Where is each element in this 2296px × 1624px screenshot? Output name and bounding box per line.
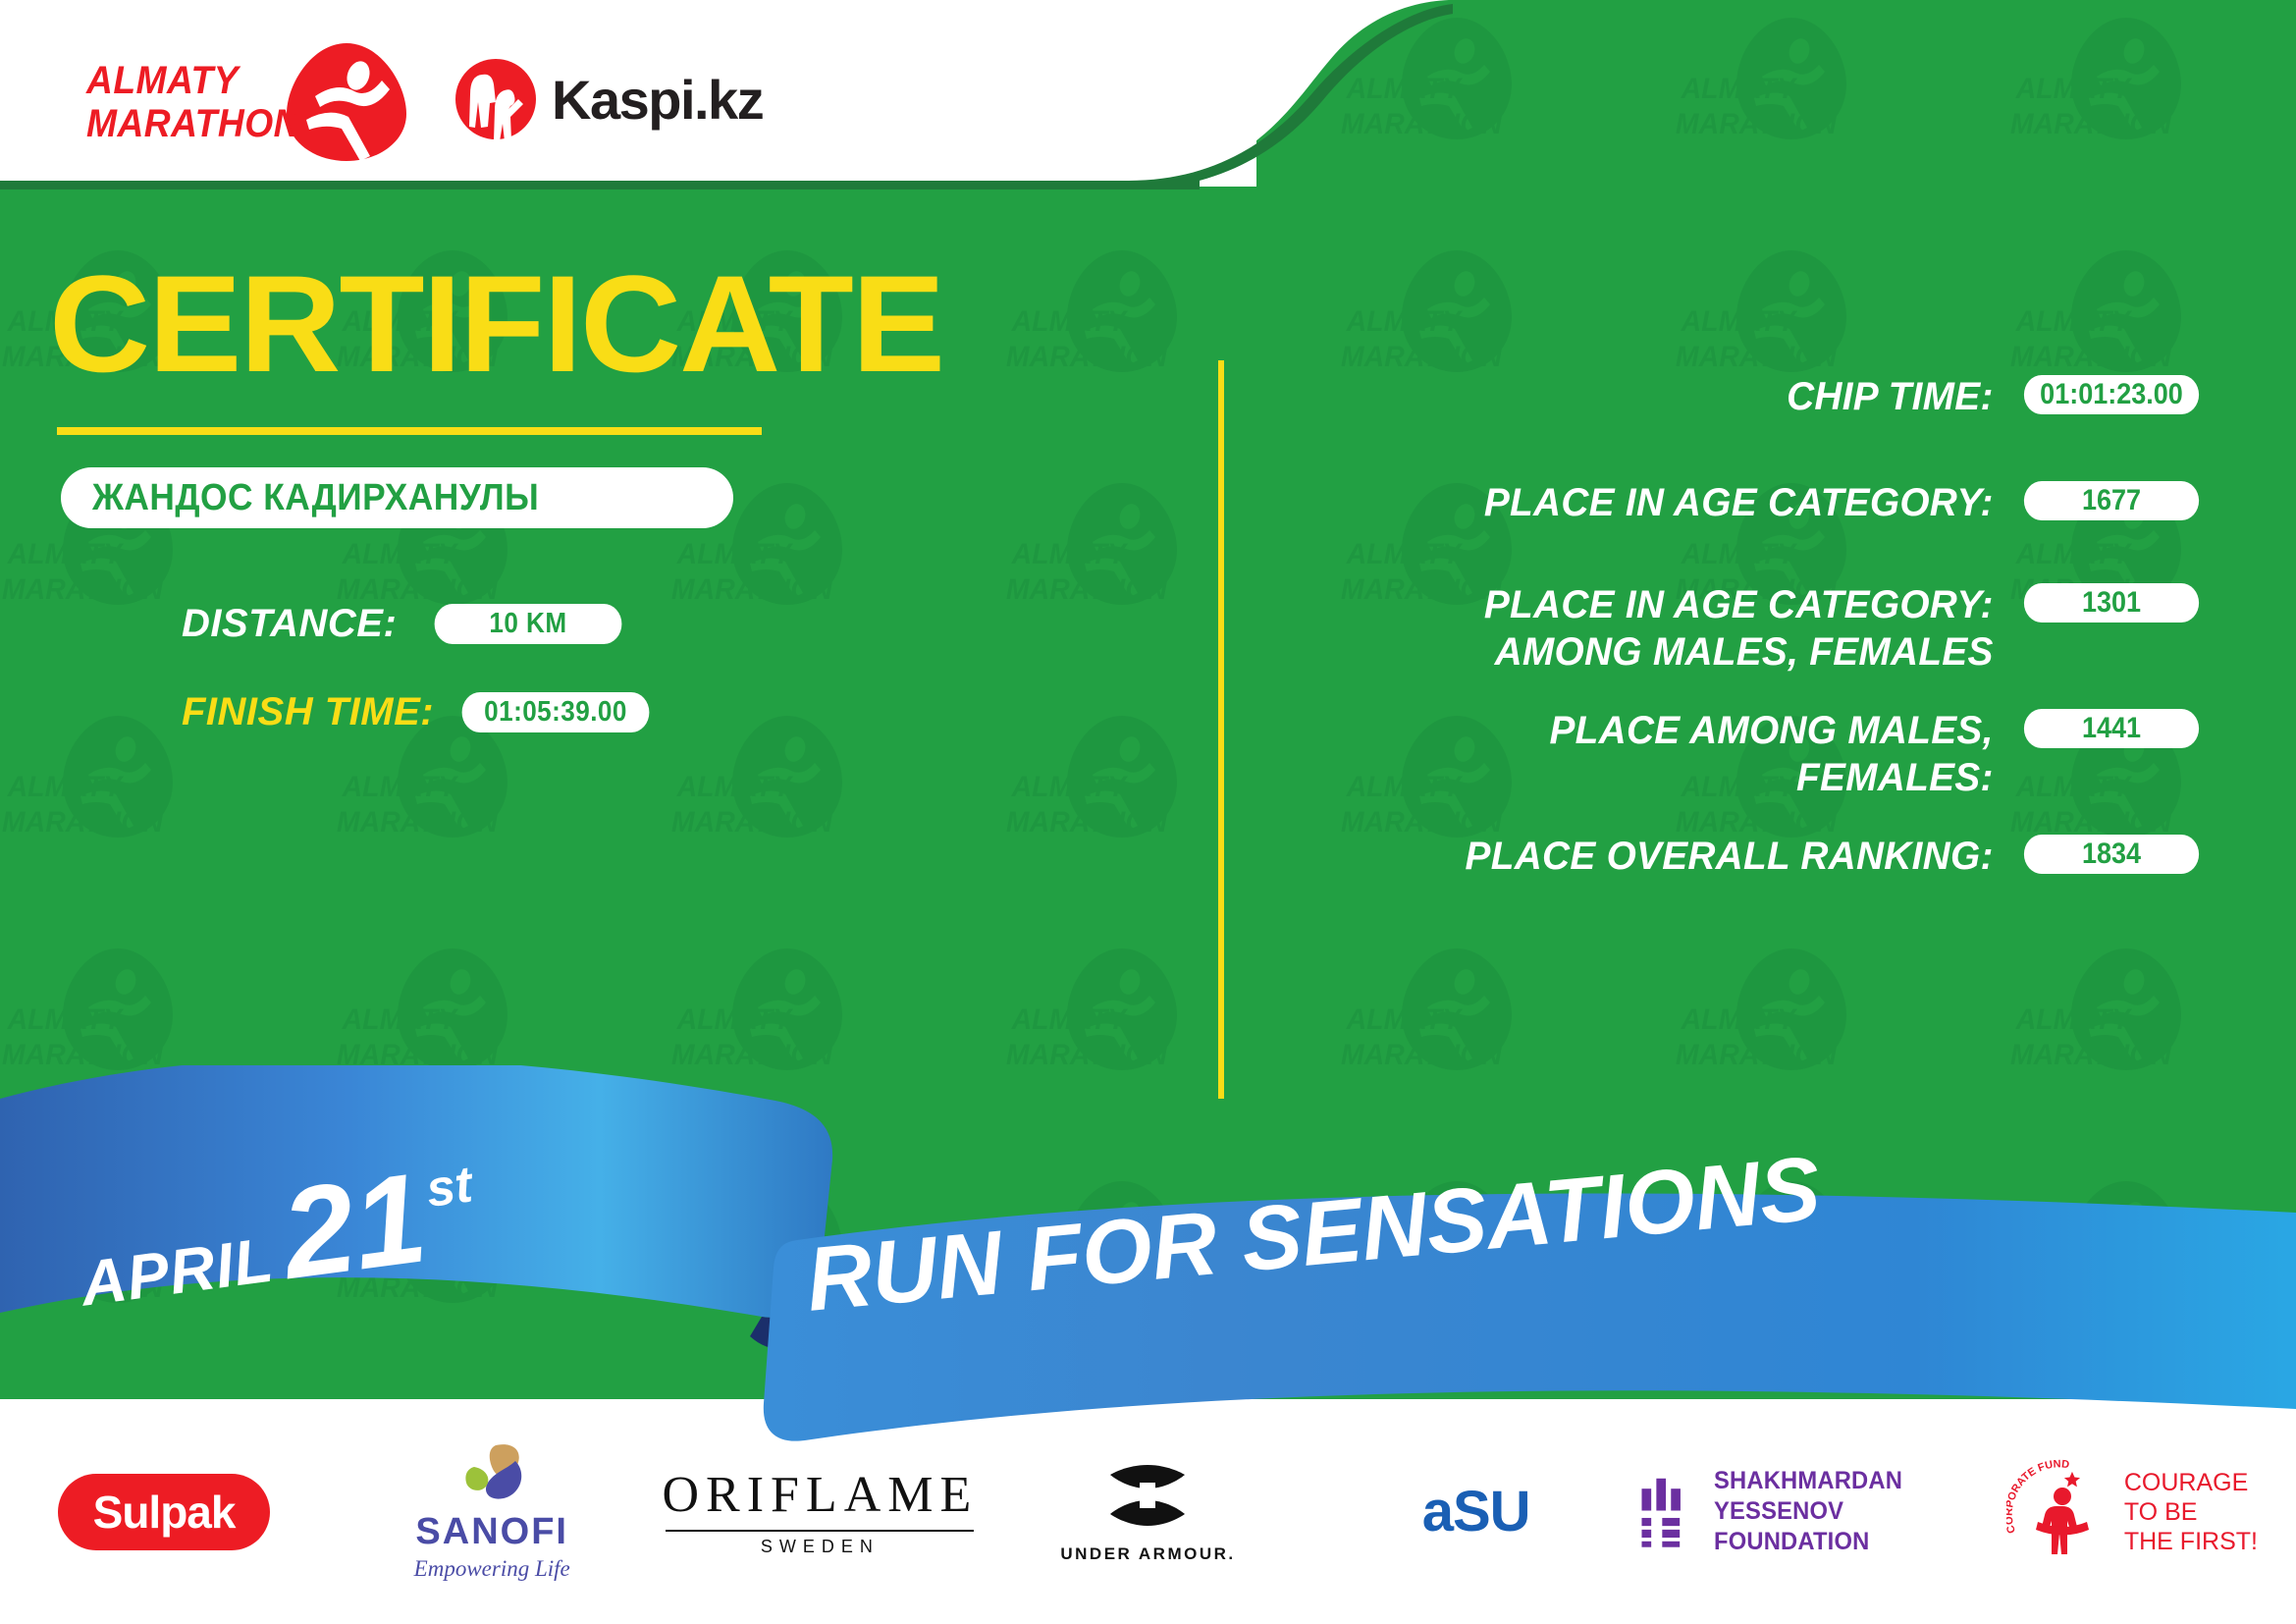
sulpak-logo: Sulpak xyxy=(58,1474,270,1550)
distance-label: DISTANCE: xyxy=(182,602,397,646)
sanofi-tagline: Empowering Life xyxy=(414,1556,570,1582)
finish-time-value: 01:05:39.00 xyxy=(462,692,650,732)
sponsor-asu: aSU xyxy=(1312,1443,1640,1581)
sanofi-mark-icon xyxy=(454,1441,529,1502)
am-line-2: MARATHON xyxy=(86,102,300,145)
column-divider xyxy=(1218,360,1224,1099)
stat-row: PLACE IN AGE CATEGORY: AMONG MALES, FEMA… xyxy=(1266,581,2209,676)
kaspi-logo: Kaspi.kz xyxy=(454,57,763,141)
sponsor-under-armour: UNDER ARMOUR. xyxy=(984,1443,1311,1581)
stat-value: 1677 xyxy=(2024,481,2199,520)
distance-value: 10 KM xyxy=(435,604,622,644)
sponsor-sulpak: Sulpak xyxy=(0,1443,328,1581)
yessenov-wordmark: SHAKHMARDAN YESSENOV FOUNDATION xyxy=(1714,1466,1955,1557)
ribbon-day: 21 xyxy=(276,1160,432,1292)
stat-value: 01:01:23.00 xyxy=(2024,375,2199,414)
courage-wordmark: COURAGE TO BE THE FIRST! xyxy=(2124,1468,2258,1556)
ribbon-day-suffix: st xyxy=(423,1155,476,1219)
header-underline xyxy=(0,181,1200,189)
stat-value: 1441 xyxy=(2024,709,2199,748)
under-armour-wordmark: UNDER ARMOUR. xyxy=(1060,1544,1235,1564)
almaty-marathon-logo: ALMATY MARATHON xyxy=(86,45,391,153)
stat-label: CHIP TIME: xyxy=(1289,373,2014,420)
sponsor-bar: Sulpak SANOFI Empowering Life ORIFLAME S… xyxy=(0,1399,2296,1624)
stat-value: 1834 xyxy=(2024,835,2199,874)
under-armour-logo: UNDER ARMOUR. xyxy=(1060,1459,1235,1564)
kaspi-circle-icon xyxy=(454,57,538,141)
under-armour-mark-icon xyxy=(1085,1459,1210,1532)
stat-row: CHIP TIME: 01:01:23.00 xyxy=(1266,373,2209,420)
oriflame-wordmark: ORIFLAME xyxy=(662,1466,978,1524)
oriflame-subtitle: SWEDEN xyxy=(662,1537,978,1557)
courage-figure-icon: CORPORATE FUND xyxy=(2006,1457,2116,1567)
finish-time-label: FINISH TIME: xyxy=(182,690,434,734)
almaty-marathon-drop-icon xyxy=(283,41,410,163)
participant-name-field: ЖАНДОС КАДИРХАНУЛЫ xyxy=(61,467,733,528)
participant-name-value: ЖАНДОС КАДИРХАНУЛЫ xyxy=(92,477,539,519)
sponsor-yessenov-foundation: SHAKHMARDAN YESSENOV FOUNDATION xyxy=(1640,1443,1968,1581)
stat-value: 1301 xyxy=(2024,583,2199,623)
yessenov-mark-icon xyxy=(1640,1465,1694,1559)
stat-row: PLACE IN AGE CATEGORY: 1677 xyxy=(1266,479,2209,526)
stat-label: PLACE AMONG MALES, FEMALES: xyxy=(1289,707,2014,801)
certificate-root: ALMATY MARATHON ALMATY MARATHON xyxy=(0,0,2296,1624)
almaty-marathon-wordmark: ALMATY MARATHON xyxy=(86,59,300,145)
sanofi-logo: SANOFI Empowering Life xyxy=(414,1441,570,1582)
sponsor-oriflame: ORIFLAME SWEDEN xyxy=(656,1443,984,1581)
sanofi-wordmark: SANOFI xyxy=(414,1511,570,1553)
stat-row: PLACE OVERALL RANKING: 1834 xyxy=(1266,833,2209,880)
sponsor-courage-fund: CORPORATE FUND COURAGE TO BE THE FIRST! xyxy=(1968,1443,2296,1581)
finish-time-row: FINISH TIME: 01:05:39.00 xyxy=(182,690,660,734)
sponsor-sanofi: SANOFI Empowering Life xyxy=(328,1443,656,1581)
page-title: CERTIFICATE xyxy=(49,255,943,393)
stat-label: PLACE IN AGE CATEGORY: xyxy=(1289,479,2014,526)
courage-logo: CORPORATE FUND COURAGE TO BE THE FIRST! xyxy=(2006,1457,2258,1567)
title-divider xyxy=(57,427,762,435)
stat-label: PLACE IN AGE CATEGORY: AMONG MALES, FEMA… xyxy=(1289,581,2014,676)
distance-row: DISTANCE: 10 KM xyxy=(182,602,632,646)
asu-wordmark: aSU xyxy=(1422,1479,1530,1544)
stat-row: PLACE AMONG MALES, FEMALES: 1441 xyxy=(1266,707,2209,801)
am-line-1: ALMATY xyxy=(86,59,239,102)
header-curve-shape xyxy=(1129,0,1453,196)
kaspi-wordmark: Kaspi.kz xyxy=(552,68,763,132)
oriflame-logo: ORIFLAME SWEDEN xyxy=(662,1466,978,1557)
yessenov-logo: SHAKHMARDAN YESSENOV FOUNDATION xyxy=(1640,1465,1968,1559)
oriflame-rule xyxy=(666,1530,974,1532)
stat-label: PLACE OVERALL RANKING: xyxy=(1289,833,2014,880)
